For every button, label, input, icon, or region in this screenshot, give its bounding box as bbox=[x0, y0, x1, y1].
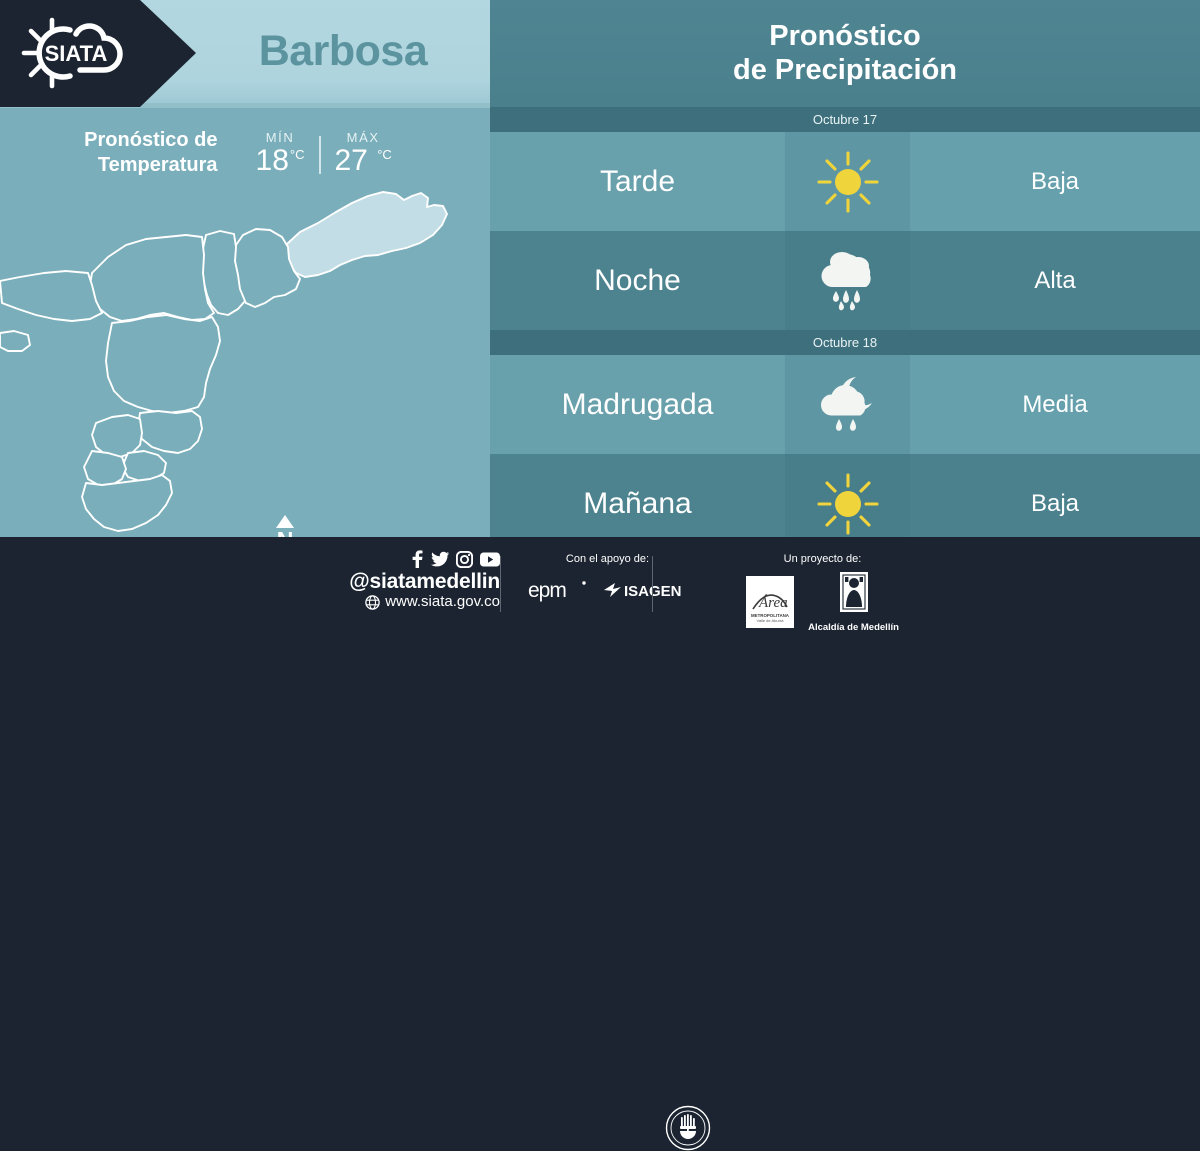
valley-map[interactable]: N bbox=[0, 185, 490, 537]
epm-logo: epm bbox=[528, 577, 590, 603]
moon-cloud-rain-icon bbox=[812, 373, 884, 437]
social-handle[interactable]: @siatamedellin bbox=[300, 570, 500, 593]
alcaldia-crest-icon bbox=[837, 571, 871, 615]
forecast-probability: Alta bbox=[910, 231, 1200, 330]
project-logos: Área METROPOLITANA Valle de Aburrá Alcal… bbox=[715, 571, 930, 633]
temperature-max: MÁX 27 °C bbox=[321, 130, 406, 176]
map-region-bello[interactable] bbox=[90, 235, 214, 321]
support-block: Con el apoyo de: epm ISAGEN bbox=[515, 553, 700, 603]
project-block: Un proyecto de: Área METROPOLITANA Valle… bbox=[715, 553, 930, 633]
instagram-icon[interactable] bbox=[456, 551, 473, 568]
footer: @siatamedellin www.siata.gov.co Con el a… bbox=[0, 537, 1200, 630]
forecast-probability: Media bbox=[910, 355, 1200, 454]
svg-text:epm: epm bbox=[528, 579, 566, 602]
globe-icon bbox=[365, 595, 380, 610]
temperature-min-label: MÍN bbox=[256, 130, 305, 145]
project-label: Un proyecto de: bbox=[715, 553, 930, 565]
sun-cloud-icon: SIATA bbox=[14, 12, 134, 94]
forecast-icon-cell bbox=[785, 132, 910, 231]
left-panel: SIATA Barbosa Pronóstico de Temperatura … bbox=[0, 0, 490, 537]
map-region-caldas[interactable] bbox=[82, 475, 172, 531]
alcaldia-de-medellin-logo: Alcaldía de Medellín bbox=[808, 571, 899, 633]
forecast-period: Noche bbox=[490, 231, 785, 330]
forecast-row[interactable]: Noche Alta bbox=[490, 231, 1200, 330]
svg-text:Área: Área bbox=[758, 594, 788, 611]
twitter-icon[interactable] bbox=[431, 550, 449, 568]
map-region-northeast-small[interactable] bbox=[0, 331, 30, 351]
footer-divider-1 bbox=[500, 556, 501, 612]
map-region-northwest[interactable] bbox=[0, 271, 102, 321]
date-band-2: Octubre 18 bbox=[490, 330, 1200, 355]
youtube-icon[interactable] bbox=[480, 552, 500, 567]
map-region-envigado[interactable] bbox=[138, 411, 202, 453]
website-url: www.siata.gov.co bbox=[385, 593, 500, 611]
temperature-max-label: MÁX bbox=[335, 130, 392, 145]
infographic-canvas: SIATA Barbosa Pronóstico de Temperatura … bbox=[0, 0, 1200, 630]
forecast-row[interactable]: Tarde Baja bbox=[490, 132, 1200, 231]
support-logos: epm ISAGEN bbox=[515, 577, 700, 603]
map-region-barbosa[interactable] bbox=[287, 192, 447, 277]
temperature-min-reading: 18°C bbox=[256, 146, 305, 176]
forecast-period: Madrugada bbox=[490, 355, 785, 454]
social-icons bbox=[300, 550, 500, 568]
temperature-header: Pronóstico de Temperatura MÍN 18°C MÁX 2… bbox=[0, 118, 490, 188]
temperature-min-unit: °C bbox=[290, 147, 305, 162]
temperature-max-unit: °C bbox=[377, 147, 392, 162]
temperature-min-value: 18 bbox=[256, 144, 289, 177]
website-line[interactable]: www.siata.gov.co bbox=[300, 593, 500, 611]
alcaldia-label: Alcaldía de Medellín bbox=[808, 622, 899, 633]
date-band-1: Octubre 17 bbox=[490, 107, 1200, 132]
sun-icon bbox=[815, 149, 881, 215]
temperature-max-reading: 27 °C bbox=[335, 146, 392, 176]
temperature-max-value: 27 bbox=[335, 144, 368, 177]
support-label: Con el apoyo de: bbox=[515, 553, 700, 565]
precipitation-title: Pronóstico de Precipitación bbox=[733, 20, 957, 87]
forecast-icon-cell bbox=[785, 231, 910, 330]
sun-icon bbox=[815, 471, 881, 537]
forecast-row[interactable]: Madrugada Media bbox=[490, 355, 1200, 454]
map-region-medellin-north[interactable] bbox=[106, 315, 220, 413]
map-region-itagui[interactable] bbox=[92, 415, 142, 457]
city-name: Barbosa bbox=[196, 0, 490, 103]
footer-divider-2 bbox=[652, 556, 653, 612]
map-region-la-estrella[interactable] bbox=[84, 451, 126, 485]
forecast-icon-cell bbox=[785, 355, 910, 454]
precipitation-header: Pronóstico de Precipitación bbox=[490, 0, 1200, 107]
social-block: @siatamedellin www.siata.gov.co bbox=[300, 550, 500, 611]
isagen-logo: ISAGEN bbox=[602, 579, 688, 601]
facebook-icon[interactable] bbox=[411, 550, 424, 568]
universidad-de-antioquia-seal bbox=[665, 1105, 711, 1151]
cloud-rain-icon bbox=[812, 249, 884, 313]
temperature-values: MÍN 18°C MÁX 27 °C bbox=[242, 130, 406, 176]
siata-logo-text: SIATA bbox=[45, 41, 108, 66]
forecast-period: Tarde bbox=[490, 132, 785, 231]
right-panel: Pronóstico de Precipitación Octubre 17 T… bbox=[490, 0, 1200, 537]
temperature-min: MÍN 18°C bbox=[242, 130, 319, 176]
forecast-probability: Baja bbox=[910, 132, 1200, 231]
temperature-title: Pronóstico de Temperatura bbox=[84, 128, 217, 178]
svg-text:Valle de Aburrá: Valle de Aburrá bbox=[757, 618, 785, 623]
area-metropolitana-logo: Área METROPOLITANA Valle de Aburrá bbox=[746, 576, 794, 628]
